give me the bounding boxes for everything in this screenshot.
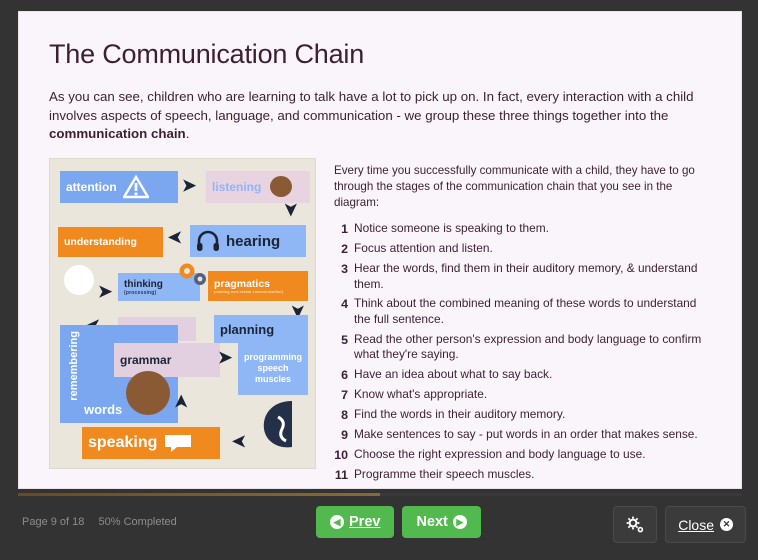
course-player: The Communication Chain As you can see, … [0, 0, 758, 560]
communication-steps-list: 1 Notice someone is speaking to them. 2 … [334, 221, 711, 489]
step-number: 10 [334, 447, 354, 464]
diagram-node-understanding: understanding [58, 227, 163, 257]
status-text: Page 9 of 18 50% Completed [22, 516, 177, 528]
list-item: 5 Read the other person's expression and… [334, 332, 711, 364]
arrow-left-3: ➤ [232, 433, 246, 450]
page-status: Page 9 of 18 [22, 516, 84, 528]
arrow-right-1: ➤ [182, 177, 196, 194]
progress-bar-track [18, 493, 742, 496]
arrow-down-1: ➤ [283, 203, 300, 217]
diagram-node-pragmatics-1: pragmatics (reading non-verbal communica… [208, 271, 308, 301]
diagram-label-listening: listening [206, 180, 267, 194]
list-item: 11 Programme their speech muscles. [334, 467, 711, 484]
diagram-label-understanding: understanding [58, 236, 143, 248]
diagram-label-pragmatics-1: pragmatics [208, 278, 276, 290]
step-text: Focus attention and listen. [354, 241, 711, 258]
list-item: 3 Hear the words, find them in their aud… [334, 261, 711, 293]
step-text: Speak. [354, 487, 711, 489]
speech-bubble-icon [163, 432, 193, 454]
lightbulb-illustration [64, 265, 94, 295]
intro-emphasis: communication chain [49, 126, 186, 141]
prev-button[interactable]: ◀ Prev [316, 506, 394, 538]
step-number: 4 [334, 296, 354, 328]
diagram-label-speaking: speaking [82, 434, 163, 452]
step-number: 3 [334, 261, 354, 293]
step-number: 9 [334, 427, 354, 444]
diagram-label-planning: planning [214, 322, 280, 337]
slide-body: attention ➤ listening [49, 158, 711, 489]
step-text: Have an idea about what to say back. [354, 367, 711, 384]
step-text: Read the other person's expression and b… [354, 332, 711, 364]
ear-illustration [270, 176, 292, 197]
diagram-label-remembering: remembering [62, 331, 86, 401]
close-button-label: Close [678, 517, 714, 533]
arrow-right-2: ➤ [98, 283, 112, 300]
gear-icon [626, 516, 644, 534]
diagram-label-thinking: thinking [118, 279, 169, 290]
diagram-sublabel-pragmatics-1: (reading non-verbal communication) [208, 290, 289, 294]
list-item: 8 Find the words in their auditory memor… [334, 407, 711, 424]
close-circle-icon: ✕ [720, 518, 733, 531]
diagram-node-attention: attention [60, 171, 178, 203]
headphones-icon [196, 230, 220, 252]
gears-icon [176, 261, 210, 289]
step-text: Hear the words, find them in their audit… [354, 261, 711, 293]
child-face-illustration [126, 371, 170, 415]
diagram-node-grammar: grammar [114, 343, 220, 377]
diagram-node-listening: listening [206, 171, 310, 203]
warning-triangle-icon [123, 175, 149, 199]
step-number: 7 [334, 387, 354, 404]
prev-button-label: Prev [349, 514, 380, 530]
diagram-label-words: words [78, 402, 128, 417]
list-item: 1 Notice someone is speaking to them. [334, 221, 711, 238]
list-item: 12 Speak. [334, 487, 711, 489]
step-number: 1 [334, 221, 354, 238]
list-item: 2 Focus attention and listen. [334, 241, 711, 258]
slide-content-panel: The Communication Chain As you can see, … [18, 11, 742, 489]
intro-text-start: As you can see, children who are learnin… [49, 89, 694, 123]
diagram-node-speaking: speaking [82, 427, 220, 459]
diagram-label-attention: attention [60, 180, 123, 194]
intro-text-end: . [186, 126, 190, 141]
diagram-label-hearing: hearing [220, 233, 286, 250]
completion-status: 50% Completed [99, 516, 177, 528]
list-item: 10 Choose the right expression and body … [334, 447, 711, 464]
step-text: Find the words in their auditory memory. [354, 407, 711, 424]
diagram-label-programming: programming speech muscles [238, 352, 308, 384]
step-text: Notice someone is speaking to them. [354, 221, 711, 238]
figure-column: attention ➤ listening [49, 158, 316, 469]
step-number: 11 [334, 467, 354, 484]
step-text: Choose the right expression and body lan… [354, 447, 711, 464]
step-number: 12 [334, 487, 354, 489]
step-text: Make sentences to say - put words in an … [354, 427, 711, 444]
head-profile-illustration [258, 397, 300, 451]
settings-button[interactable] [613, 506, 657, 543]
step-number: 8 [334, 407, 354, 424]
arrow-right-3: ➤ [218, 349, 232, 366]
list-item: 4 Think about the combined meaning of th… [334, 296, 711, 328]
step-text: Know what's appropriate. [354, 387, 711, 404]
step-number: 6 [334, 367, 354, 384]
lead-paragraph: Every time you successfully communicate … [334, 163, 711, 210]
diagram-node-programming-speech-muscles: programming speech muscles [238, 341, 308, 395]
next-button[interactable]: Next ▶ [402, 506, 480, 538]
close-button[interactable]: Close ✕ [665, 506, 746, 543]
diagram-node-planning: planning [214, 315, 308, 343]
diagram-node-hearing: hearing [190, 225, 306, 257]
step-number: 5 [334, 332, 354, 364]
communication-chain-diagram: attention ➤ listening [49, 158, 316, 469]
list-item: 9 Make sentences to say - put words in a… [334, 427, 711, 444]
player-footer: Page 9 of 18 50% Completed ◀ Prev Next ▶ [0, 500, 758, 560]
arrow-left-1: ➤ [168, 229, 182, 246]
navigation-buttons: ◀ Prev Next ▶ [316, 506, 481, 538]
chevron-right-circle-icon: ▶ [453, 515, 467, 529]
step-text: Think about the combined meaning of thes… [354, 296, 711, 328]
diagram-label-grammar: grammar [114, 353, 177, 367]
progress-bar-fill [18, 493, 380, 496]
text-column: Every time you successfully communicate … [334, 158, 711, 489]
intro-paragraph: As you can see, children who are learnin… [49, 88, 711, 145]
step-text: Programme their speech muscles. [354, 467, 711, 484]
diagram-sublabel-thinking: (processing) [118, 290, 162, 296]
page-title: The Communication Chain [49, 40, 711, 70]
list-item: 7 Know what's appropriate. [334, 387, 711, 404]
chevron-left-circle-icon: ◀ [330, 515, 344, 529]
utility-buttons: Close ✕ [613, 506, 746, 543]
arrow-up-1: ➤ [173, 395, 190, 409]
next-button-label: Next [416, 514, 447, 530]
list-item: 6 Have an idea about what to say back. [334, 367, 711, 384]
step-number: 2 [334, 241, 354, 258]
